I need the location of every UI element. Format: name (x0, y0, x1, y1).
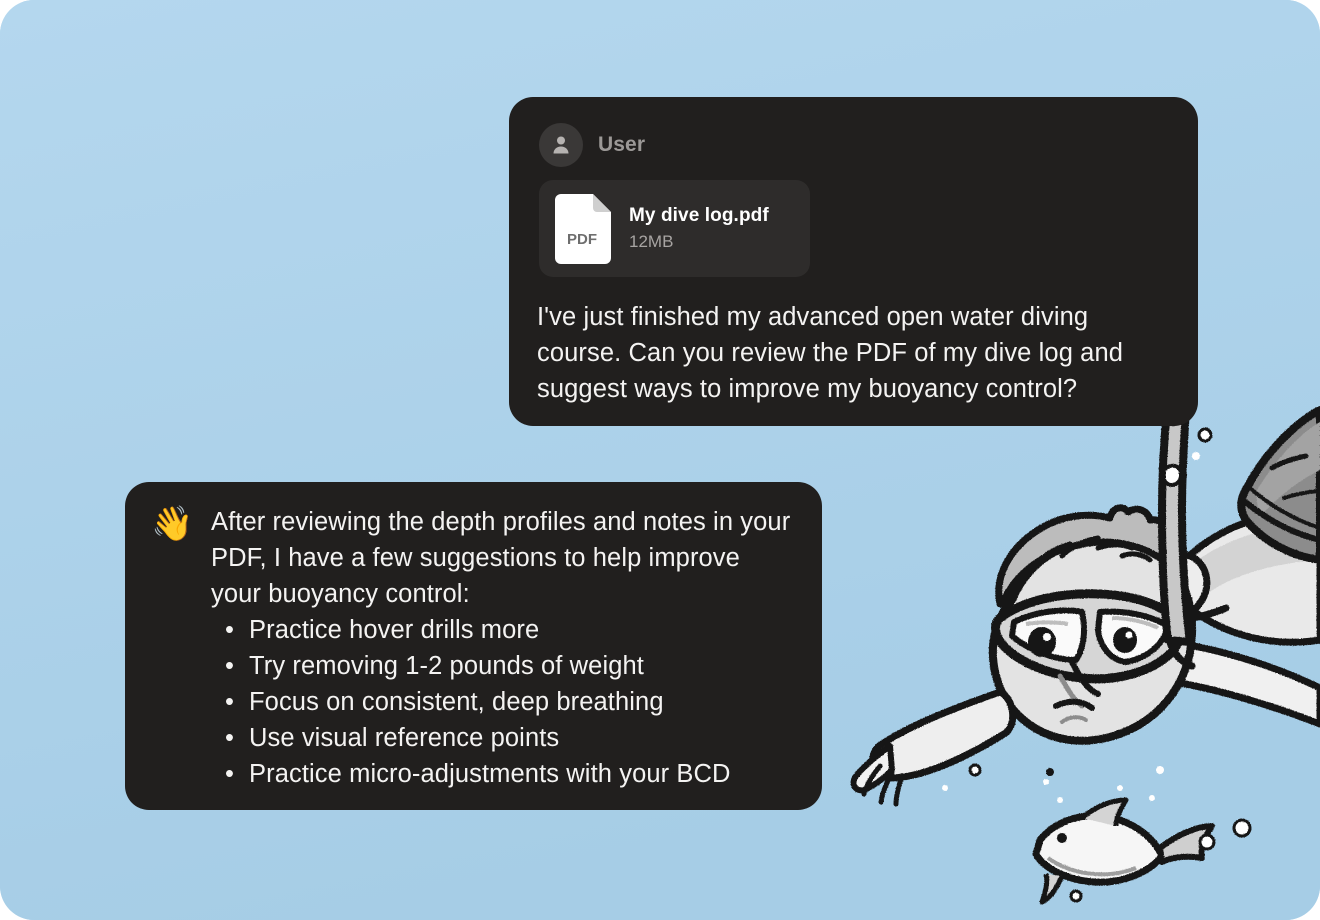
list-item: Try removing 1-2 pounds of weight (249, 648, 796, 684)
user-message-text: I've just finished my advanced open wate… (537, 299, 1177, 407)
list-item: Use visual reference points (249, 720, 796, 756)
pdf-file-size: 12MB (629, 232, 769, 252)
user-message-header: User (509, 97, 1228, 167)
pdf-attachment-card[interactable]: PDF My dive log.pdf 12MB (539, 180, 810, 277)
list-item: Focus on consistent, deep breathing (249, 684, 796, 720)
waving-hand-emoji: 👋 (151, 504, 199, 810)
chat-conversation: User PDF My dive log.pdf 12MB I've just … (0, 0, 1320, 920)
assistant-message-content: 👋 After reviewing the depth profiles and… (125, 482, 822, 810)
pdf-file-icon: PDF (555, 194, 611, 264)
pdf-file-meta: My dive log.pdf 12MB (629, 205, 769, 252)
screenshot-canvas: User PDF My dive log.pdf 12MB I've just … (0, 0, 1320, 920)
user-author-label: User (598, 133, 645, 157)
pdf-file-name: My dive log.pdf (629, 205, 769, 227)
assistant-intro-text: After reviewing the depth profiles and n… (211, 504, 796, 612)
list-item: Practice hover drills more (249, 612, 796, 648)
svg-text:PDF: PDF (567, 231, 597, 248)
assistant-message-body: After reviewing the depth profiles and n… (211, 504, 796, 810)
suggestions-list: Practice hover drills more Try removing … (211, 612, 796, 792)
list-item: Practice micro-adjustments with your BCD (249, 756, 796, 792)
user-avatar-icon (539, 123, 583, 167)
